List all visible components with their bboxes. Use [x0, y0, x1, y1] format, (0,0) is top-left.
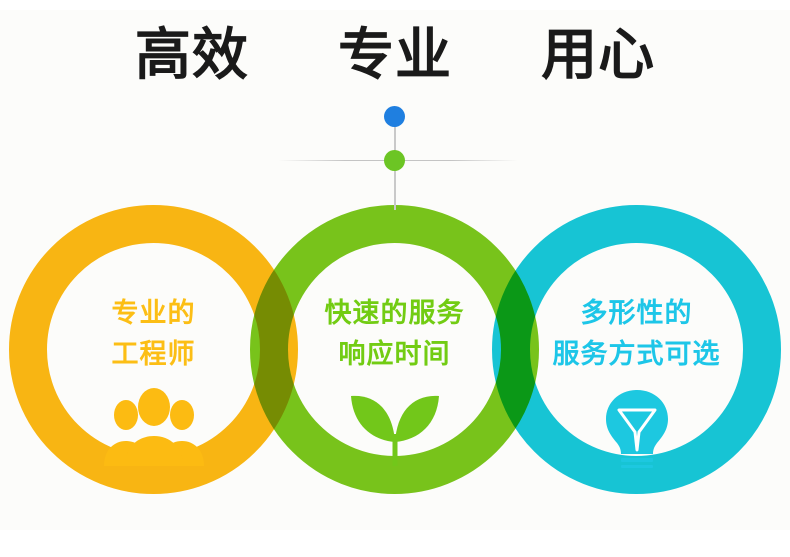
headline-word-3: 用心: [541, 27, 655, 83]
circle-3-icon-wrap: [492, 388, 781, 470]
circle-flexible-service-options: 多形性的 服务方式可选: [492, 205, 781, 494]
people-group-icon: [100, 388, 208, 466]
headline-word-1: 高效: [135, 27, 249, 83]
green-dot-icon: [384, 150, 405, 171]
infographic-poster: 高效 专业 用心 专业的 工程师: [0, 0, 790, 557]
dot-connector-decoration: [336, 98, 454, 210]
circle-3-label-line2: 服务方式可选: [492, 334, 781, 375]
circle-3-label-line1: 多形性的: [492, 293, 781, 334]
blue-dot-icon: [384, 106, 405, 127]
sprout-leaf-icon: [337, 388, 453, 466]
page-title: 高效 专业 用心: [0, 27, 790, 83]
circle-3-label: 多形性的 服务方式可选: [492, 293, 781, 375]
lightbulb-icon: [598, 388, 676, 468]
headline-word-2: 专业: [338, 27, 452, 83]
